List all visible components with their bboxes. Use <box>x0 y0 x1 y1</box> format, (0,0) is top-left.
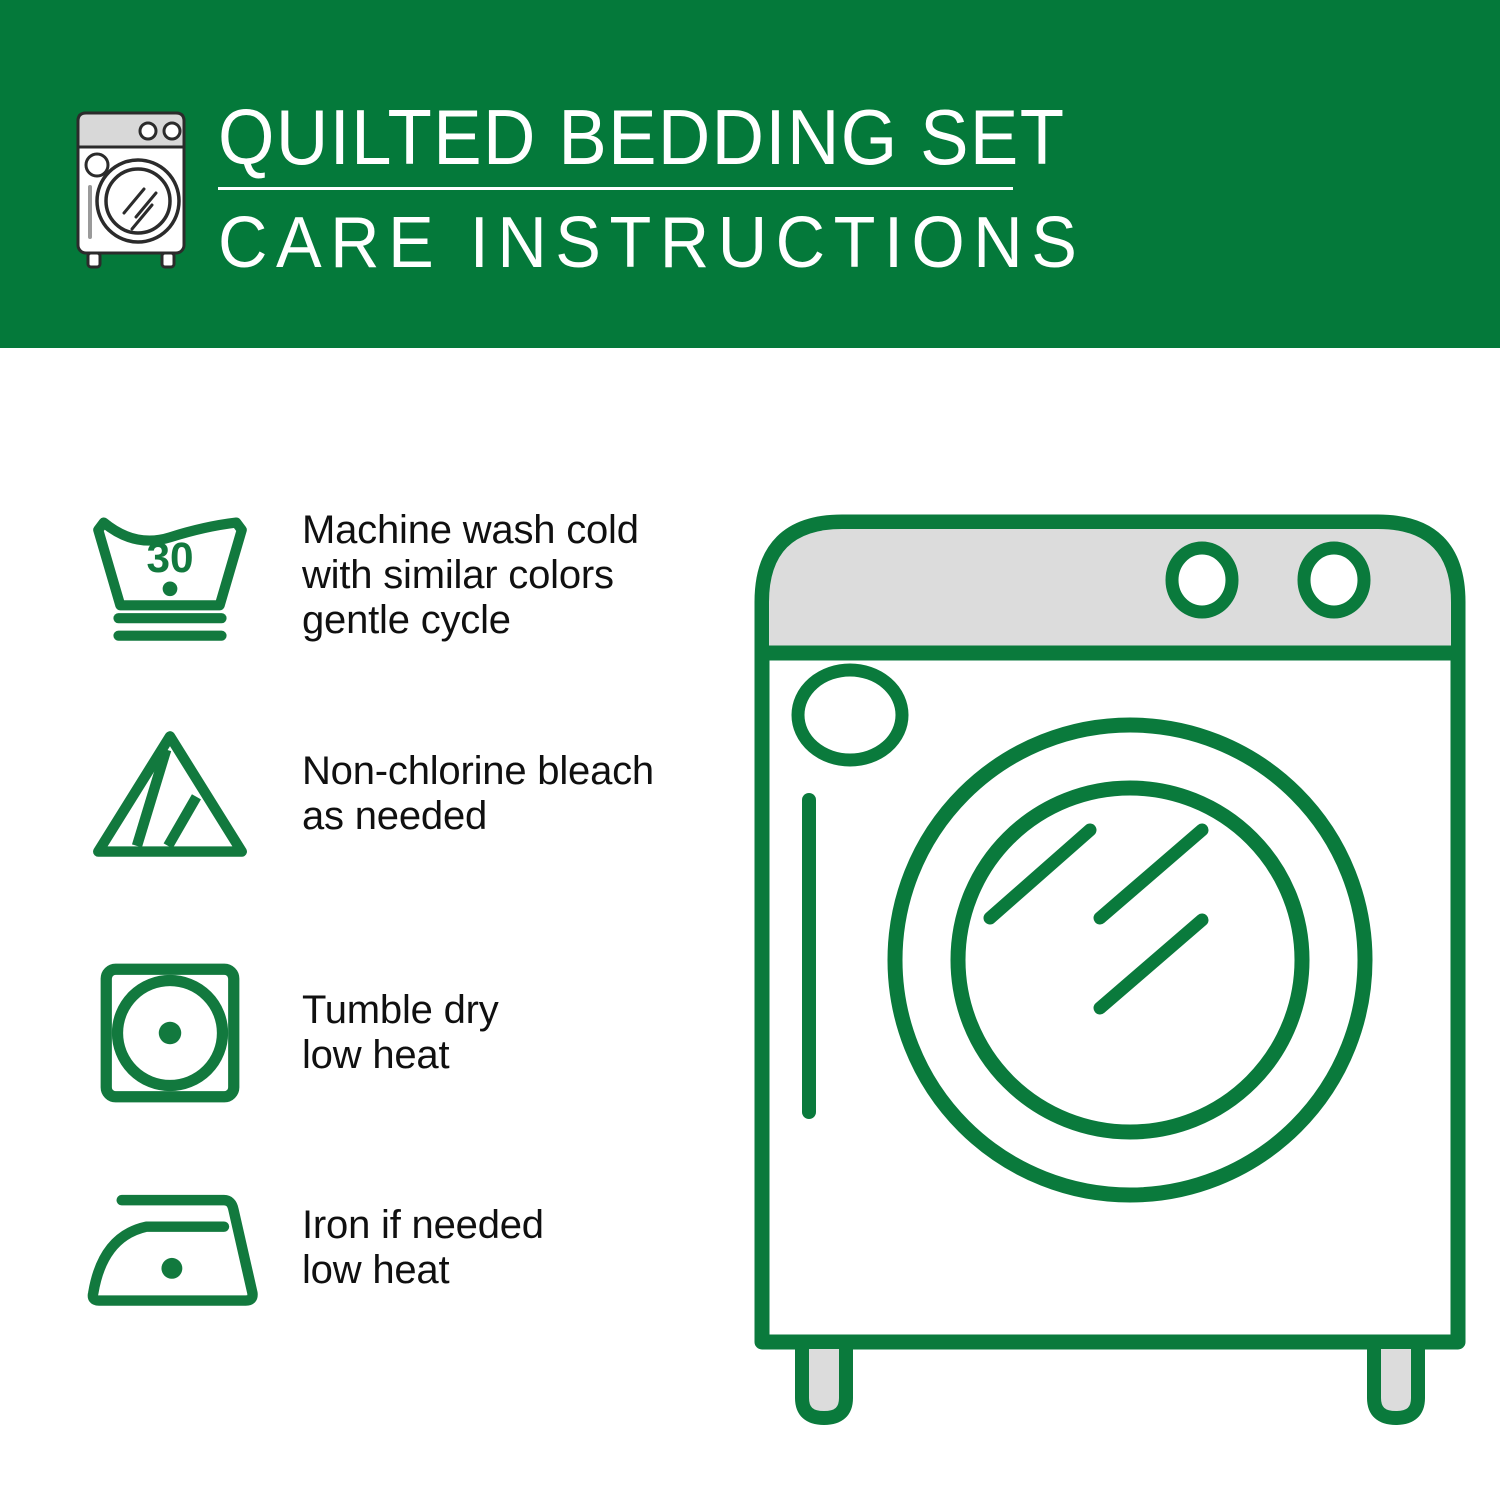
page-subtitle: CARE INSTRUCTIONS <box>218 204 997 282</box>
leg-left <box>802 1342 846 1418</box>
care-instruction-list: 30 Machine wash cold with similar colors… <box>0 348 720 1500</box>
care-label-machine-wash: Machine wash cold with similar colors ge… <box>302 508 720 643</box>
header-text-block: QUILTED BEDDING SET CARE INSTRUCTIONS <box>218 95 1038 282</box>
care-row-tumble-dry: Tumble dry low heat <box>0 958 720 1108</box>
care-label-bleach: Non-chlorine bleach as needed <box>302 749 720 839</box>
care-label-tumble-dry: Tumble dry low heat <box>302 988 720 1078</box>
washing-machine-icon <box>62 105 202 270</box>
wash-temperature-value: 30 <box>146 534 193 581</box>
care-row-bleach: Non-chlorine bleach as needed <box>0 723 720 865</box>
front-load-washing-machine-illustration <box>740 490 1480 1430</box>
tumble-dry-low-heat-icon <box>70 958 270 1108</box>
knob-right <box>1304 548 1364 612</box>
leg-right <box>1374 1342 1418 1418</box>
care-instructions-page: QUILTED BEDDING SET CARE INSTRUCTIONS 30… <box>0 0 1500 1500</box>
wash-tub-30-gentle-icon: 30 <box>70 506 270 644</box>
detergent-dispenser <box>798 670 902 760</box>
title-divider <box>218 187 1013 190</box>
care-row-machine-wash: 30 Machine wash cold with similar colors… <box>0 506 720 644</box>
page-title: QUILTED BEDDING SET <box>218 95 981 179</box>
knob-left <box>1172 548 1232 612</box>
iron-low-heat-icon <box>70 1181 270 1314</box>
care-row-iron: Iron if needed low heat <box>0 1181 720 1314</box>
care-label-iron: Iron if needed low heat <box>302 1203 720 1293</box>
header-banner: QUILTED BEDDING SET CARE INSTRUCTIONS <box>0 0 1500 348</box>
non-chlorine-bleach-triangle-icon <box>70 723 270 865</box>
